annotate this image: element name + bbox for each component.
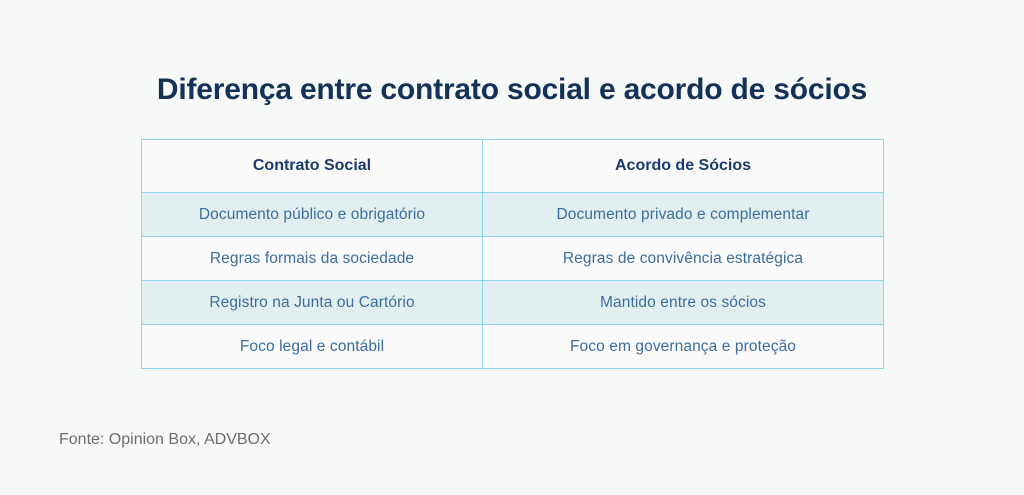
table-row: Foco legal e contábil Foco em governança…: [142, 325, 884, 369]
table-row: Documento público e obrigatório Document…: [142, 193, 884, 237]
table-cell-left: Foco legal e contábil: [142, 325, 483, 369]
source-attribution: Fonte: Opinion Box, ADVBOX: [59, 429, 271, 451]
table-cell-left: Registro na Junta ou Cartório: [142, 281, 483, 325]
table-body: Documento público e obrigatório Document…: [142, 193, 884, 369]
table-header: Contrato Social Acordo de Sócios: [142, 140, 884, 193]
comparison-table-container: Contrato Social Acordo de Sócios Documen…: [141, 139, 883, 369]
table-cell-right: Foco em governança e proteção: [483, 325, 884, 369]
table-row: Registro na Junta ou Cartório Mantido en…: [142, 281, 884, 325]
infographic-page: Diferença entre contrato social e acordo…: [0, 0, 1024, 495]
column-header-contrato-social: Contrato Social: [142, 140, 483, 193]
table-cell-right: Documento privado e complementar: [483, 193, 884, 237]
table-cell-right: Regras de convivência estratégica: [483, 237, 884, 281]
table-header-row: Contrato Social Acordo de Sócios: [142, 140, 884, 193]
page-title: Diferença entre contrato social e acordo…: [0, 70, 1024, 110]
table-row: Regras formais da sociedade Regras de co…: [142, 237, 884, 281]
column-header-acordo-de-socios: Acordo de Sócios: [483, 140, 884, 193]
table-cell-left: Documento público e obrigatório: [142, 193, 483, 237]
comparison-table: Contrato Social Acordo de Sócios Documen…: [141, 139, 884, 369]
table-cell-right: Mantido entre os sócios: [483, 281, 884, 325]
table-cell-left: Regras formais da sociedade: [142, 237, 483, 281]
